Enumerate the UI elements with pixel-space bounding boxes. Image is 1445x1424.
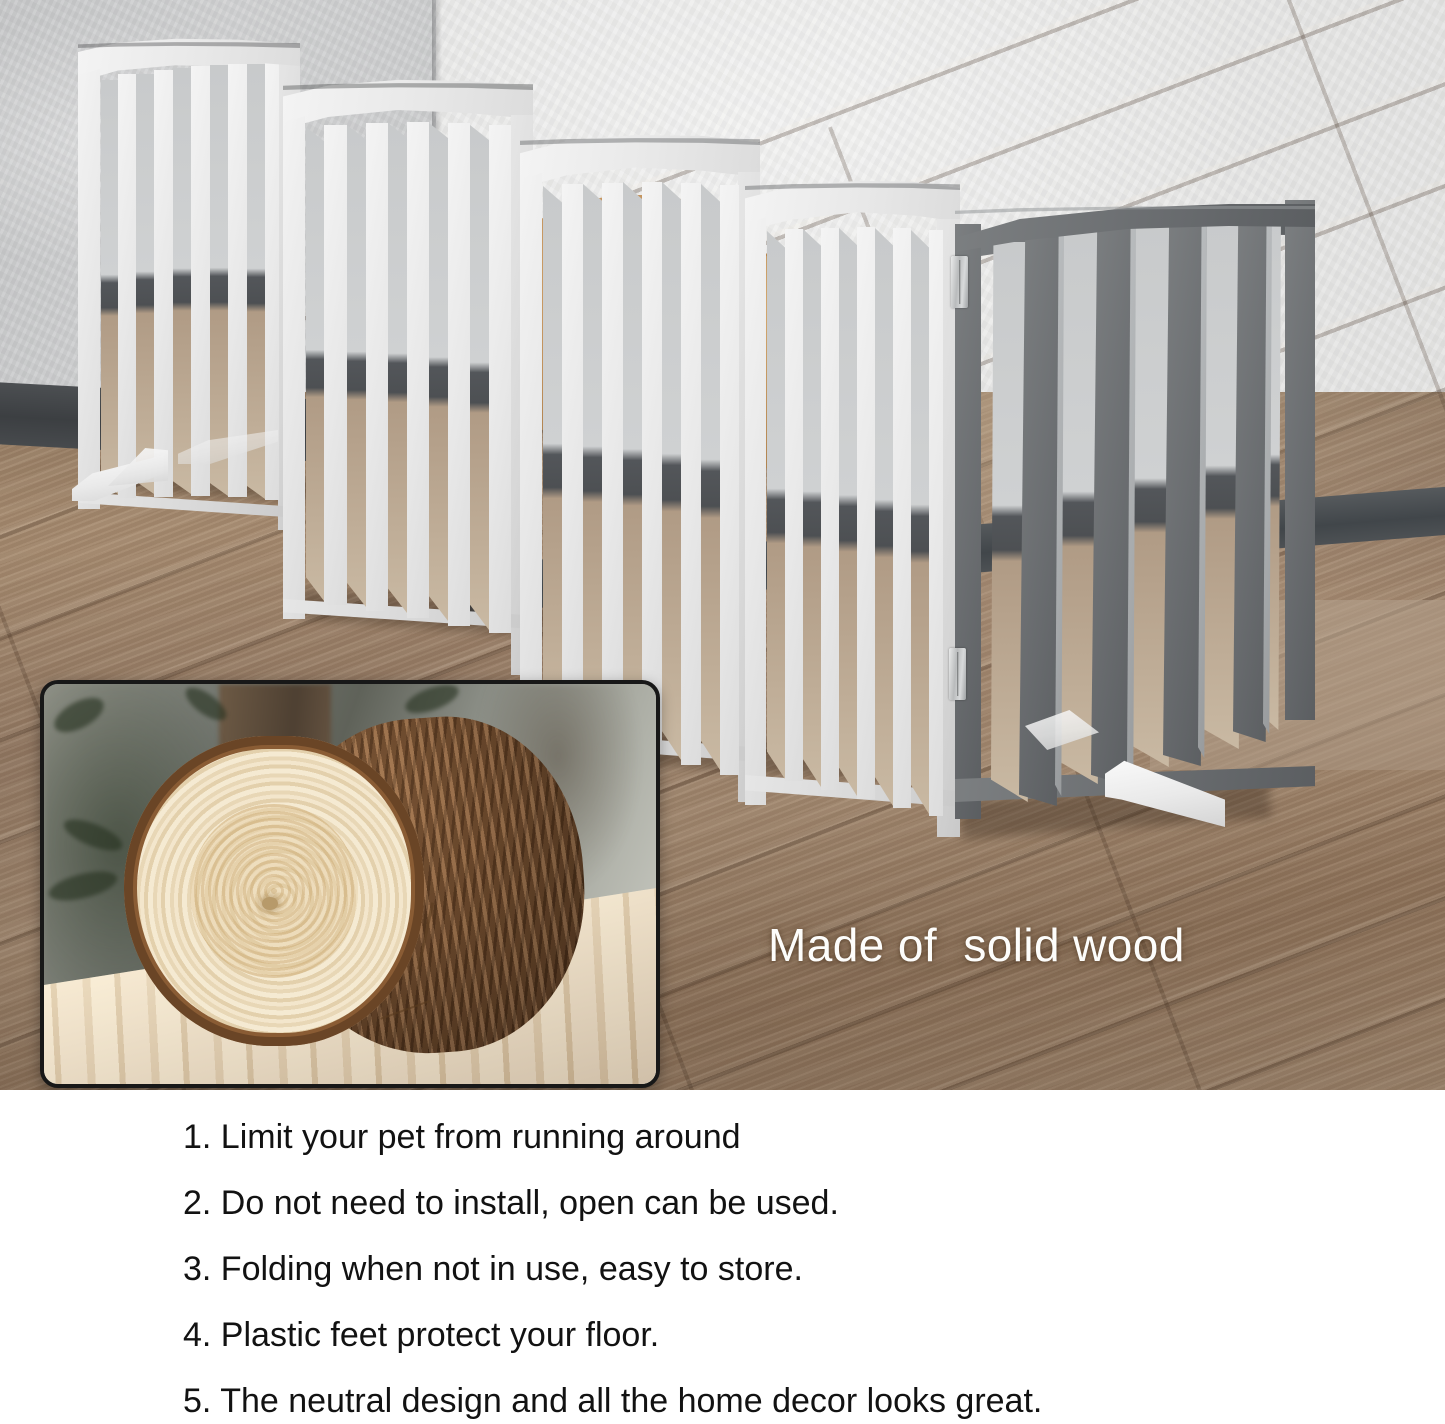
panel-1-slat-2 xyxy=(154,70,173,497)
panel-1-gap-2 xyxy=(136,74,154,494)
made-of-solid-wood-caption: Made of solid wood xyxy=(768,918,1185,972)
gate-panel-2 xyxy=(283,75,533,675)
panel-3-slat-3 xyxy=(642,182,662,754)
panel-5-left-post xyxy=(955,224,981,819)
hinge-top[interactable] xyxy=(951,256,968,308)
panel-4-slat-2 xyxy=(821,228,839,790)
panel-4-gap-5 xyxy=(911,230,929,814)
panel-3-slat-1 xyxy=(562,184,583,736)
panel-2-gap-4 xyxy=(429,123,448,621)
panel-4-slat-4 xyxy=(893,228,911,808)
panel-4-gap-1 xyxy=(767,231,785,779)
panel-2-slat-1 xyxy=(324,125,347,605)
panel-4-gap-4 xyxy=(875,228,893,806)
panel-3-gap-1 xyxy=(543,186,562,734)
panel-3-left-post xyxy=(520,158,542,758)
panel-2-slat-4 xyxy=(448,123,470,626)
panel-3-gap-2 xyxy=(583,184,602,742)
feature-item-3: 3. Folding when not in use, easy to stor… xyxy=(0,1236,1445,1302)
panel-4-gap-3 xyxy=(839,228,857,796)
panel-2-slat-3 xyxy=(407,122,429,618)
panel-2-gap-3 xyxy=(388,123,407,613)
panel-3-slat-4 xyxy=(681,183,701,765)
gate-panel-4 xyxy=(745,175,960,840)
panel-4-gap-2 xyxy=(803,229,821,787)
feature-item-2: 2. Do not need to install, open can be u… xyxy=(0,1170,1445,1236)
product-photo: Made of solid wood xyxy=(0,0,1445,1090)
feature-list-panel: 1. Limit your pet from running around 2.… xyxy=(0,1090,1445,1424)
panel-1-slat-1 xyxy=(118,74,136,498)
panel-1-gap-3 xyxy=(173,68,191,494)
panel-3-gap-4 xyxy=(662,182,681,760)
panel-2-gap-5 xyxy=(470,125,489,630)
panel-1-slat-3 xyxy=(191,66,210,496)
panel-3-gap-5 xyxy=(701,184,720,770)
panel-4-left-post xyxy=(745,205,766,805)
feature-item-1: 1. Limit your pet from running around xyxy=(0,1104,1445,1170)
feature-item-5: 5. The neutral design and all the home d… xyxy=(0,1368,1445,1424)
panel-3-gap-3 xyxy=(623,182,642,750)
panel-1-gap-4 xyxy=(210,65,228,496)
panel-1-left-post xyxy=(78,54,100,509)
hinge-bottom[interactable] xyxy=(949,648,966,700)
gate-panel-5-grey xyxy=(955,180,1315,840)
panel-2-slat-5 xyxy=(489,125,511,633)
panel-1-slat-4 xyxy=(228,64,247,497)
panel-5-right-post xyxy=(1285,200,1315,720)
panel-2-gap-2 xyxy=(347,125,366,607)
panel-1-gap-1 xyxy=(101,80,118,494)
panel-3-slat-2 xyxy=(602,183,623,745)
feature-list: 1. Limit your pet from running around 2.… xyxy=(0,1104,1445,1424)
panel-4-slat-1 xyxy=(785,229,803,781)
panel-2-left-post xyxy=(283,99,305,619)
panel-4-slat-5 xyxy=(929,230,943,816)
feature-item-4: 4. Plastic feet protect your floor. xyxy=(0,1302,1445,1368)
panel-2-gap-1 xyxy=(306,127,324,601)
panel-4-slat-3 xyxy=(857,227,875,799)
solid-wood-log-inset xyxy=(40,680,660,1088)
product-listing-image: Made of solid wood 1. Limit your pet fro… xyxy=(0,0,1445,1424)
inset-log-growth-rings xyxy=(124,736,424,1046)
panel-3-slat-5 xyxy=(720,185,739,775)
panel-2-slat-2 xyxy=(366,123,388,611)
